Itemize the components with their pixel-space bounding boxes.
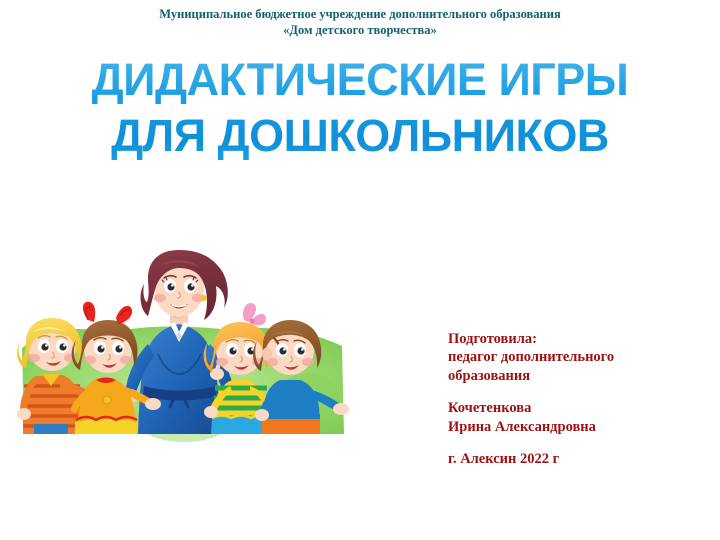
author-credits-block: Подготовила: педагог дополнительного обр…: [448, 330, 703, 468]
author-role-line-2: образования: [448, 367, 703, 385]
page-title-line-2: ДЛЯ ДОШКОЛЬНИКОВ: [0, 108, 720, 164]
spacer-2: [448, 436, 703, 450]
illustration-svg: [12, 228, 354, 456]
presentation-slide: Муниципальное бюджетное учреждение допол…: [0, 0, 720, 540]
author-place-year: г. Алексин 2022 г: [448, 450, 703, 468]
author-label: Подготовила:: [448, 330, 703, 348]
teacher-earring: [201, 295, 207, 301]
author-first-patronymic: Ирина Александровна: [448, 418, 703, 436]
organization-header: Муниципальное бюджетное учреждение допол…: [60, 6, 660, 38]
organization-header-line-1: Муниципальное бюджетное учреждение допол…: [159, 7, 560, 21]
illustration-teacher-with-children: [12, 228, 354, 456]
organization-header-line-2: «Дом детского творчества»: [60, 22, 660, 38]
author-surname: Кочетенкова: [448, 399, 703, 417]
author-role-line-1: педагог дополнительного: [448, 348, 703, 366]
boy-blond-pants: [34, 424, 68, 434]
page-title-line-1: ДИДАКТИЧЕСКИЕ ИГРЫ: [0, 52, 720, 108]
page-title: ДИДАКТИЧЕСКИЕ ИГРЫ ДЛЯ ДОШКОЛЬНИКОВ: [0, 52, 720, 164]
spacer-1: [448, 385, 703, 399]
